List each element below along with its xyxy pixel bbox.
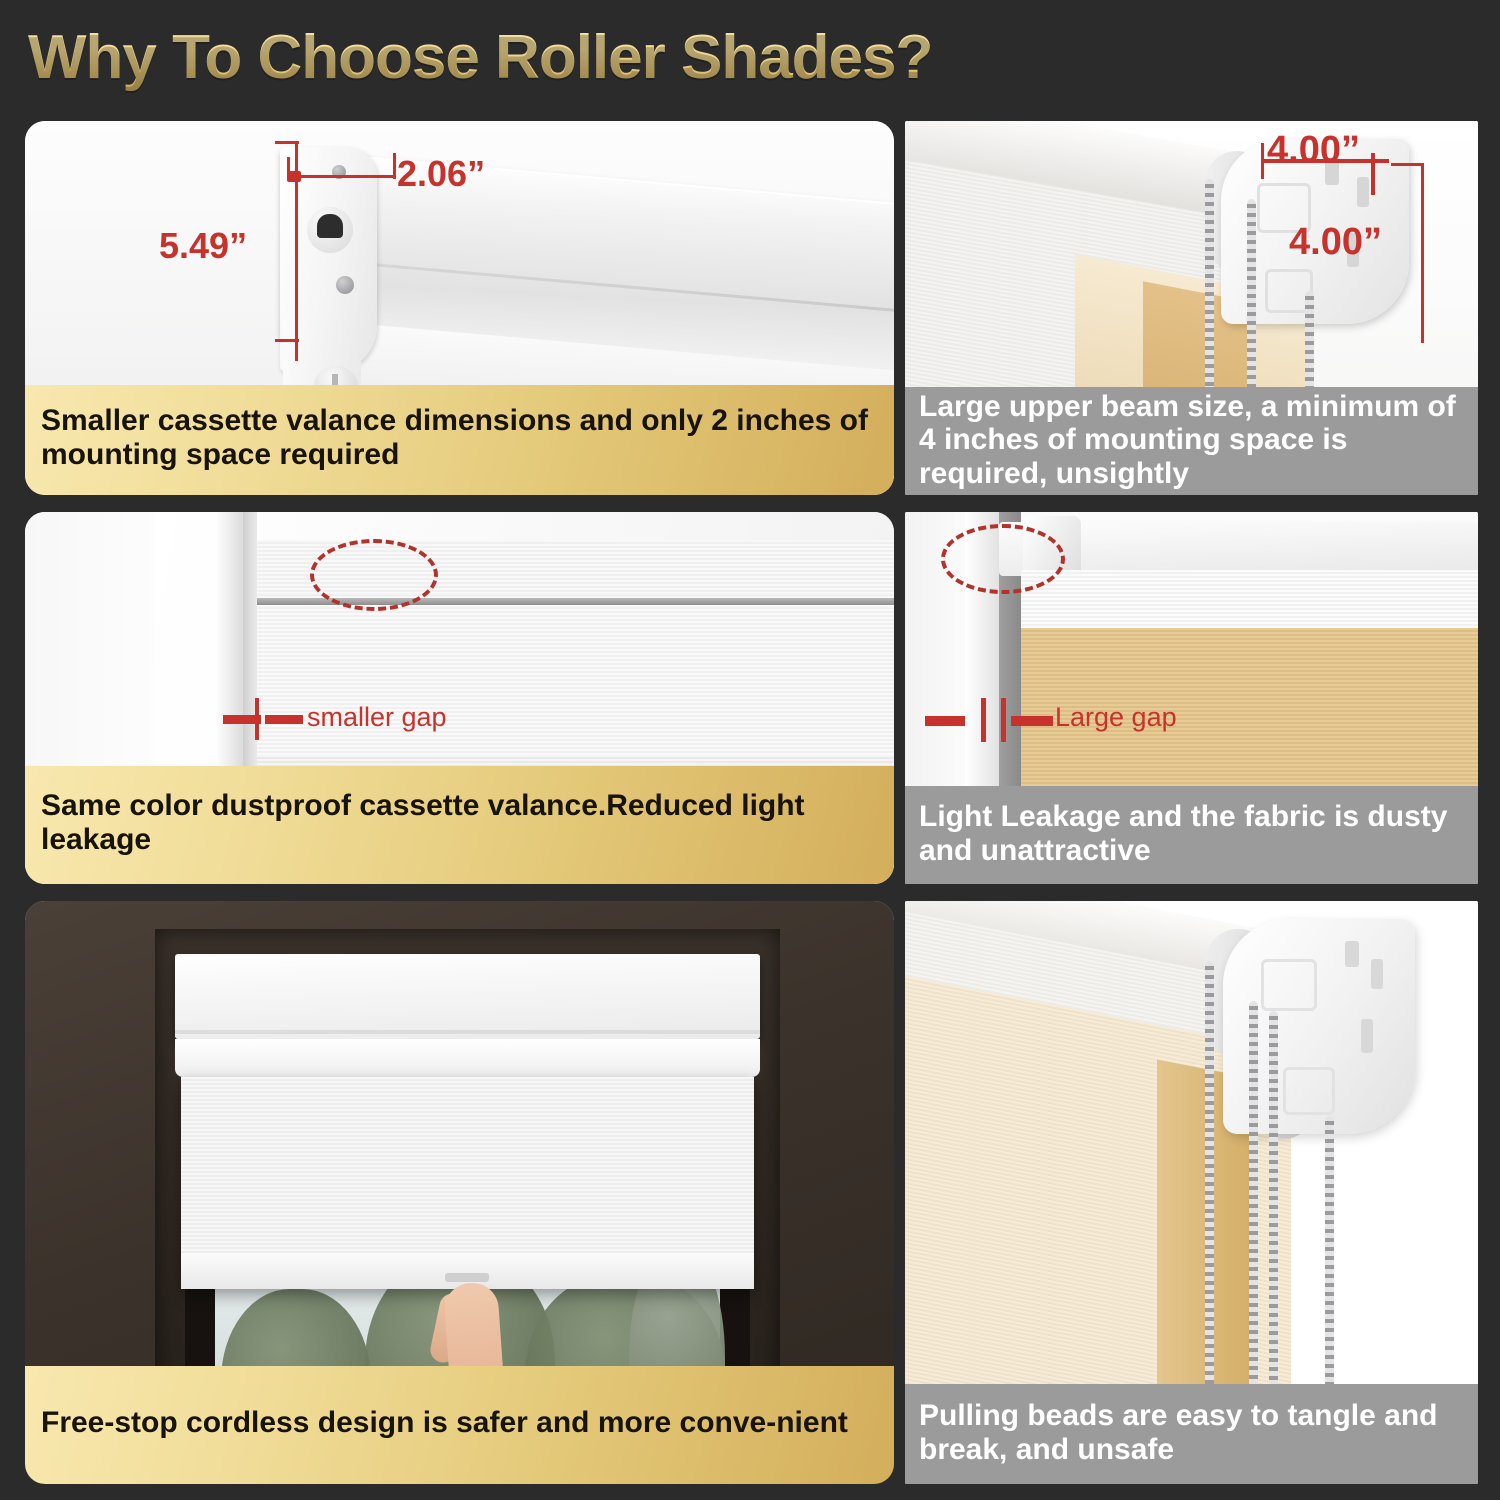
- gap-tick: [1001, 698, 1006, 742]
- panel-2-caption-text: Large upper beam size, a minimum of 4 in…: [919, 390, 1464, 491]
- comparison-grid: 2.06” 5.49” Smaller cassette valance dim…: [0, 112, 1500, 1500]
- panel-4-caption: Light Leakage and the fabric is dusty an…: [905, 786, 1478, 884]
- panel-1-caption: Smaller cassette valance dimensions and …: [25, 385, 894, 495]
- bead-chain: [1249, 1001, 1258, 1391]
- bead-chain: [1325, 1116, 1334, 1391]
- panel-5-caption-text: Free-stop cordless design is safer and m…: [41, 1406, 878, 1440]
- dim-arrow-left: [287, 171, 301, 182]
- roller-knob-icon: [307, 207, 353, 253]
- dim-tick-top: [275, 141, 299, 144]
- gap-tick: [981, 698, 986, 742]
- dim-tick-top: [1391, 163, 1423, 166]
- panel-pro-small-gap: smaller gap Same color dustproof cassett…: [25, 512, 894, 884]
- pull-handle: [445, 1273, 489, 1282]
- page-title: Why To Choose Roller Shades?: [28, 22, 932, 93]
- panel-6-caption-text: Pulling beads are easy to tangle and bre…: [919, 1399, 1464, 1466]
- dim-line-width: [287, 175, 395, 178]
- panel-4-caption-text: Light Leakage and the fabric is dusty an…: [919, 800, 1464, 867]
- valance-rail: [175, 1039, 760, 1077]
- dimension-label-width: 4.00”: [1267, 129, 1360, 172]
- highlight-ellipse: [310, 539, 438, 611]
- dim-tick-right: [393, 153, 396, 179]
- panel-con-pull-beads: Pulling beads are easy to tangle and bre…: [905, 901, 1478, 1484]
- bracket-slot: [1371, 959, 1383, 989]
- header-bar: Why To Choose Roller Shades?: [0, 0, 1500, 112]
- gap-tick: [255, 698, 259, 740]
- bracket-emboss-icon: [1261, 959, 1317, 1011]
- white-fabric-band: [1021, 570, 1478, 628]
- highlight-ellipse: [941, 524, 1065, 594]
- bracket-slot: [1357, 177, 1369, 207]
- gap-arrow-right: [265, 715, 303, 724]
- dim-line-height: [295, 141, 298, 361]
- gap-label: smaller gap: [307, 702, 447, 733]
- panel-5-caption: Free-stop cordless design is safer and m…: [25, 1366, 894, 1484]
- panel-3-caption-text: Same color dustproof cassette valance.Re…: [41, 789, 878, 856]
- gap-arrow-left: [925, 716, 965, 726]
- panel-con-large-gap: Large gap Light Leakage and the fabric i…: [905, 512, 1478, 884]
- panel-con-large-beam: 4.00” 4.00” Large upper beam size, a min…: [905, 121, 1478, 495]
- dimension-label-height: 5.49”: [159, 225, 247, 267]
- gap-label: Large gap: [1055, 702, 1177, 733]
- panel-pro-cordless: Free-stop cordless design is safer and m…: [25, 901, 894, 1484]
- panel-3-caption: Same color dustproof cassette valance.Re…: [25, 766, 894, 884]
- dim-line-height: [1421, 163, 1424, 343]
- panel-1-caption-text: Smaller cassette valance dimensions and …: [41, 404, 878, 471]
- screw-icon: [336, 276, 354, 294]
- dimension-label-height: 4.00”: [1289, 221, 1382, 264]
- bead-chain: [1269, 1011, 1278, 1391]
- bracket-slot: [1345, 941, 1359, 967]
- panel-2-caption: Large upper beam size, a minimum of 4 in…: [905, 387, 1478, 495]
- gap-arrow-right: [1011, 716, 1053, 726]
- dim-tick-bottom: [275, 339, 299, 342]
- bracket-slot: [1361, 1019, 1373, 1053]
- panel-pro-cassette-dimensions: 2.06” 5.49” Smaller cassette valance dim…: [25, 121, 894, 495]
- cassette-valance: [175, 954, 760, 1039]
- dim-tick-right: [1371, 153, 1375, 195]
- dimension-label-width: 2.06”: [397, 153, 485, 195]
- panel-6-caption: Pulling beads are easy to tangle and bre…: [905, 1384, 1478, 1484]
- bracket-emboss-icon: [1283, 1067, 1335, 1115]
- bead-chain: [1205, 961, 1214, 1391]
